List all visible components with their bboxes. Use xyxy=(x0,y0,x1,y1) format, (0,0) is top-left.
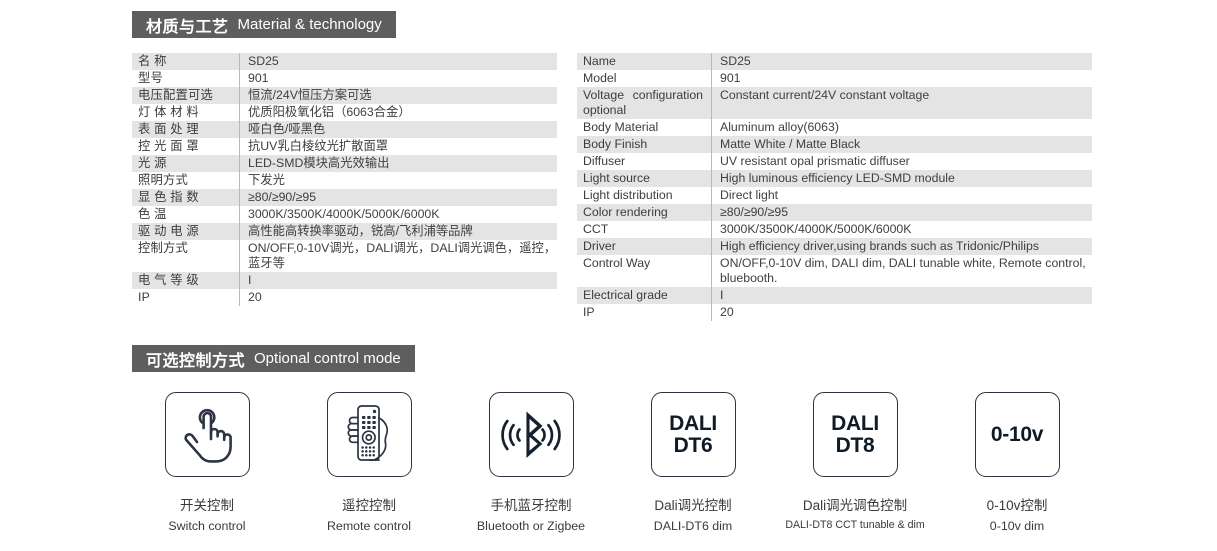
table-row: 电 气 等 级 I xyxy=(132,272,557,289)
spec-value: I xyxy=(240,272,558,289)
control-mode-remote[interactable]: 遥控控制 Remote control xyxy=(294,392,444,533)
spec-value: 下发光 xyxy=(240,172,558,189)
spec-key: 色 温 xyxy=(132,206,240,223)
spec-key: Voltage configuration optional xyxy=(577,87,712,119)
dali-dt6-badge-icon: DALI DT6 xyxy=(669,413,717,456)
spec-key: Model xyxy=(577,70,712,87)
spec-value: High efficiency driver,using brands such… xyxy=(712,238,1093,255)
control-mode-0-10v[interactable]: 0-10v 0-10v控制 0-10v dim xyxy=(942,392,1092,533)
control-mode-bluetooth[interactable]: 手机蓝牙控制 Bluetooth or Zigbee xyxy=(456,392,606,533)
spec-table-chinese: 名 称 SD25 型号 901 电压配置可选 恒流/24V恒压方案可选 灯 体 … xyxy=(132,53,557,306)
table-row: 型号 901 xyxy=(132,70,557,87)
table-row: 控制方式 ON/OFF,0-10V调光，DALI调光，DALI调光调色，遥控，蓝… xyxy=(132,240,557,272)
table-row: 光 源 LED-SMD模块高光效输出 xyxy=(132,155,557,172)
spec-key: Light distribution xyxy=(577,187,712,204)
table-row: Voltage configuration optional Constant … xyxy=(577,87,1092,119)
spec-value: 哑白色/哑黑色 xyxy=(240,121,558,138)
section-title-en: Material & technology xyxy=(238,16,382,33)
badge-line-2: DT6 xyxy=(669,435,717,456)
section-title-cn: 可选控制方式 xyxy=(146,347,245,371)
spec-value: 高性能高转换率驱动，锐高/飞利浦等品牌 xyxy=(240,223,558,240)
control-mode-caption-en: DALI-DT6 dim xyxy=(654,519,733,533)
table-row: 表 面 处 理 哑白色/哑黑色 xyxy=(132,121,557,138)
table-row: Body Finish Matte White / Matte Black xyxy=(577,136,1092,153)
spec-key: Diffuser xyxy=(577,153,712,170)
table-row: Light source High luminous efficiency LE… xyxy=(577,170,1092,187)
spec-value: High luminous efficiency LED-SMD module xyxy=(712,170,1093,187)
control-mode-dali-dt8[interactable]: DALI DT8 Dali调光调色控制 DALI-DT8 CCT tunable… xyxy=(780,392,930,531)
table-row: Color rendering ≥80/≥90/≥95 xyxy=(577,204,1092,221)
table-row: Electrical grade I xyxy=(577,287,1092,304)
icon-box xyxy=(165,392,250,477)
bluetooth-signal-icon xyxy=(499,411,563,459)
table-row: Control Way ON/OFF,0-10V dim, DALI dim, … xyxy=(577,255,1092,287)
section-header-control-mode: 可选控制方式 Optional control mode xyxy=(132,345,415,372)
spec-key: 照明方式 xyxy=(132,172,240,189)
spec-key: 显 色 指 数 xyxy=(132,189,240,206)
control-mode-caption-cn: 0-10v控制 xyxy=(987,494,1048,514)
icon-box: 0-10v xyxy=(975,392,1060,477)
spec-key: Color rendering xyxy=(577,204,712,221)
table-row: IP 20 xyxy=(132,289,557,306)
control-mode-caption-cn: 遥控控制 xyxy=(342,494,396,514)
spec-value: Direct light xyxy=(712,187,1093,204)
table-row: 名 称 SD25 xyxy=(132,53,557,70)
icon-box: DALI DT8 xyxy=(813,392,898,477)
table-row: IP 20 xyxy=(577,304,1092,321)
spec-key: 驱 动 电 源 xyxy=(132,223,240,240)
spec-key: 型号 xyxy=(132,70,240,87)
control-mode-caption-en: 0-10v dim xyxy=(990,519,1044,533)
badge-line-1: DALI xyxy=(669,413,717,434)
spec-key: Name xyxy=(577,53,712,70)
spec-value: 3000K/3500K/4000K/5000K/6000K xyxy=(240,206,558,223)
spec-value: SD25 xyxy=(712,53,1093,70)
table-row: 照明方式 下发光 xyxy=(132,172,557,189)
spec-value: ON/OFF,0-10V调光，DALI调光，DALI调光调色，遥控，蓝牙等 xyxy=(240,240,558,272)
spec-key: 控 光 面 罩 xyxy=(132,138,240,155)
spec-value: 抗UV乳白棱纹光扩散面罩 xyxy=(240,138,558,155)
table-row: 驱 动 电 源 高性能高转换率驱动，锐高/飞利浦等品牌 xyxy=(132,223,557,240)
spec-key: 名 称 xyxy=(132,53,240,70)
control-mode-caption-en: DALI-DT8 CCT tunable & dim xyxy=(785,519,924,531)
icon-box xyxy=(489,392,574,477)
spec-key: IP xyxy=(577,304,712,321)
spec-key: 电压配置可选 xyxy=(132,87,240,104)
spec-value: 优质阳极氧化铝（6063合金） xyxy=(240,104,558,121)
table-row: 灯 体 材 料 优质阳极氧化铝（6063合金） xyxy=(132,104,557,121)
spec-key: Body Finish xyxy=(577,136,712,153)
control-mode-dali-dt6[interactable]: DALI DT6 Dali调光控制 DALI-DT6 dim xyxy=(618,392,768,533)
spec-key: 灯 体 材 料 xyxy=(132,104,240,121)
table-row: 控 光 面 罩 抗UV乳白棱纹光扩散面罩 xyxy=(132,138,557,155)
dali-dt8-badge-icon: DALI DT8 xyxy=(831,413,879,456)
control-mode-caption-cn: Dali调光调色控制 xyxy=(803,494,907,514)
control-mode-list: 开关控制 Switch control xyxy=(132,392,1092,533)
section-header-material: 材质与工艺 Material & technology xyxy=(132,11,396,38)
spec-value: 3000K/3500K/4000K/5000K/6000K xyxy=(712,221,1093,238)
table-row: Model 901 xyxy=(577,70,1092,87)
hand-remote-control-icon xyxy=(341,403,397,467)
control-mode-caption-en: Remote control xyxy=(327,519,411,533)
table-row: Name SD25 xyxy=(577,53,1092,70)
spec-key: 电 气 等 级 xyxy=(132,272,240,289)
table-row: Diffuser UV resistant opal prismatic dif… xyxy=(577,153,1092,170)
table-row: Driver High efficiency driver,using bran… xyxy=(577,238,1092,255)
section-title-cn: 材质与工艺 xyxy=(146,13,229,37)
spec-value: I xyxy=(712,287,1093,304)
spec-key: Control Way xyxy=(577,255,712,287)
control-mode-caption-cn: Dali调光控制 xyxy=(654,494,731,514)
spec-key: Body Material xyxy=(577,119,712,136)
spec-key: Light source xyxy=(577,170,712,187)
spec-key: CCT xyxy=(577,221,712,238)
spec-value: 901 xyxy=(712,70,1093,87)
zero-to-ten-volt-badge-icon: 0-10v xyxy=(991,424,1043,445)
badge-line-2: DT8 xyxy=(831,435,879,456)
control-mode-caption-en: Bluetooth or Zigbee xyxy=(477,519,585,533)
table-row: CCT 3000K/3500K/4000K/5000K/6000K xyxy=(577,221,1092,238)
spec-value: 恒流/24V恒压方案可选 xyxy=(240,87,558,104)
spec-value: ≥80/≥90/≥95 xyxy=(240,189,558,206)
spec-value: SD25 xyxy=(240,53,558,70)
spec-key: Electrical grade xyxy=(577,287,712,304)
spec-value: LED-SMD模块高光效输出 xyxy=(240,155,558,172)
icon-box: DALI DT6 xyxy=(651,392,736,477)
icon-box xyxy=(327,392,412,477)
spec-value: ON/OFF,0-10V dim, DALI dim, DALI tunable… xyxy=(712,255,1093,287)
spec-value: UV resistant opal prismatic diffuser xyxy=(712,153,1093,170)
spec-value: Matte White / Matte Black xyxy=(712,136,1093,153)
spec-table-english: Name SD25 Model 901 Voltage configuratio… xyxy=(577,53,1092,321)
table-row: 显 色 指 数 ≥80/≥90/≥95 xyxy=(132,189,557,206)
spec-value: ≥80/≥90/≥95 xyxy=(712,204,1093,221)
spec-key: 控制方式 xyxy=(132,240,240,272)
table-row: Body Material Aluminum alloy(6063) xyxy=(577,119,1092,136)
spec-key: Driver xyxy=(577,238,712,255)
badge-line-1: DALI xyxy=(831,413,879,434)
touch-hand-icon xyxy=(181,406,233,464)
table-row: 电压配置可选 恒流/24V恒压方案可选 xyxy=(132,87,557,104)
spec-sheet-page: 材质与工艺 Material & technology 名 称 SD25 型号 … xyxy=(0,0,1217,551)
control-mode-caption-cn: 手机蓝牙控制 xyxy=(491,494,572,514)
section-title-en: Optional control mode xyxy=(254,350,401,367)
control-mode-caption-cn: 开关控制 xyxy=(180,494,234,514)
spec-key: 光 源 xyxy=(132,155,240,172)
spec-value: Constant current/24V constant voltage xyxy=(712,87,1093,119)
control-mode-caption-en: Switch control xyxy=(168,519,245,533)
spec-value: Aluminum alloy(6063) xyxy=(712,119,1093,136)
spec-value: 901 xyxy=(240,70,558,87)
spec-value: 20 xyxy=(712,304,1093,321)
table-row: Light distribution Direct light xyxy=(577,187,1092,204)
spec-key: 表 面 处 理 xyxy=(132,121,240,138)
control-mode-switch[interactable]: 开关控制 Switch control xyxy=(132,392,282,533)
spec-key: IP xyxy=(132,289,240,306)
table-row: 色 温 3000K/3500K/4000K/5000K/6000K xyxy=(132,206,557,223)
spec-value: 20 xyxy=(240,289,558,306)
